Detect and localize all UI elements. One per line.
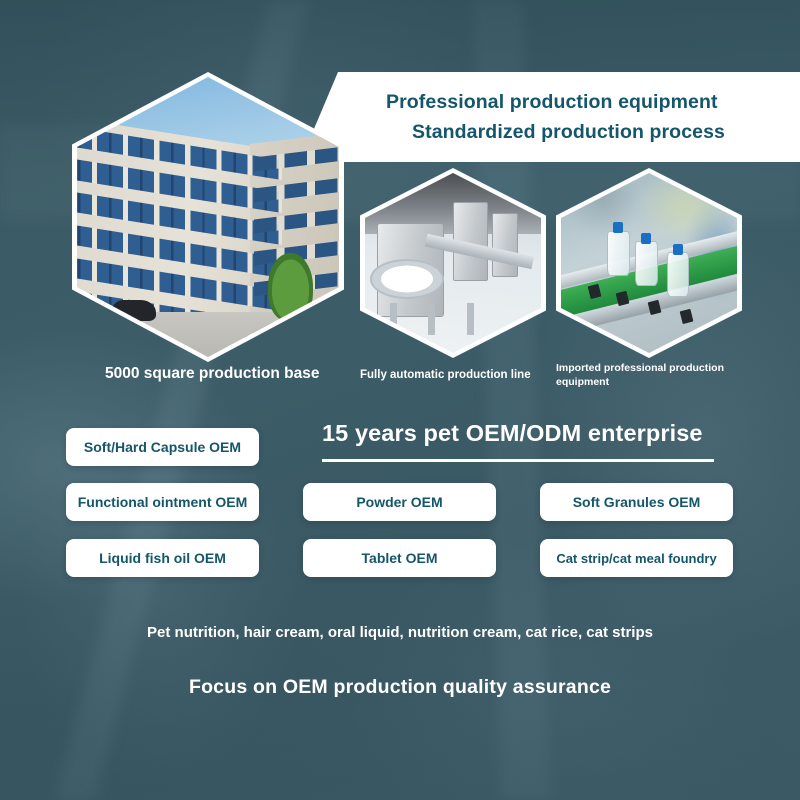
caption-automatic-line: Fully automatic production line bbox=[360, 368, 531, 383]
headline-underline bbox=[322, 459, 714, 462]
service-pill-powder[interactable]: Powder OEM bbox=[303, 483, 496, 521]
caption-production-base: 5000 square production base bbox=[105, 364, 320, 384]
service-pill-granules[interactable]: Soft Granules OEM bbox=[540, 483, 733, 521]
banner-line-1: Professional production equipment bbox=[386, 87, 800, 117]
service-pill-fishoil[interactable]: Liquid fish oil OEM bbox=[66, 539, 259, 577]
main-headline-block: 15 years pet OEM/ODM enterprise bbox=[322, 420, 722, 462]
product-list-text: Pet nutrition, hair cream, oral liquid, … bbox=[0, 624, 800, 641]
caption-imported-equipment: Imported professional production equipme… bbox=[556, 362, 746, 389]
bottle bbox=[607, 231, 630, 276]
rotary-turntable bbox=[370, 259, 444, 299]
service-pill-ointment[interactable]: Functional ointment OEM bbox=[66, 483, 259, 521]
service-pill-tablet[interactable]: Tablet OEM bbox=[303, 539, 496, 577]
bottle bbox=[635, 241, 658, 286]
bottle-conveyor-photo bbox=[561, 173, 737, 353]
service-pill-capsule[interactable]: Soft/Hard Capsule OEM bbox=[66, 428, 259, 466]
bottle bbox=[667, 252, 690, 297]
production-line-photo bbox=[365, 173, 541, 353]
banner-line-2: Standardized production process bbox=[386, 117, 800, 147]
headline-banner: Professional production equipment Standa… bbox=[300, 72, 800, 162]
focus-tagline: Focus on OEM production quality assuranc… bbox=[0, 676, 800, 699]
service-pill-catstrip[interactable]: Cat strip/cat meal foundry bbox=[540, 539, 733, 577]
main-headline: 15 years pet OEM/ODM enterprise bbox=[322, 420, 722, 447]
capping-machine bbox=[492, 213, 518, 278]
